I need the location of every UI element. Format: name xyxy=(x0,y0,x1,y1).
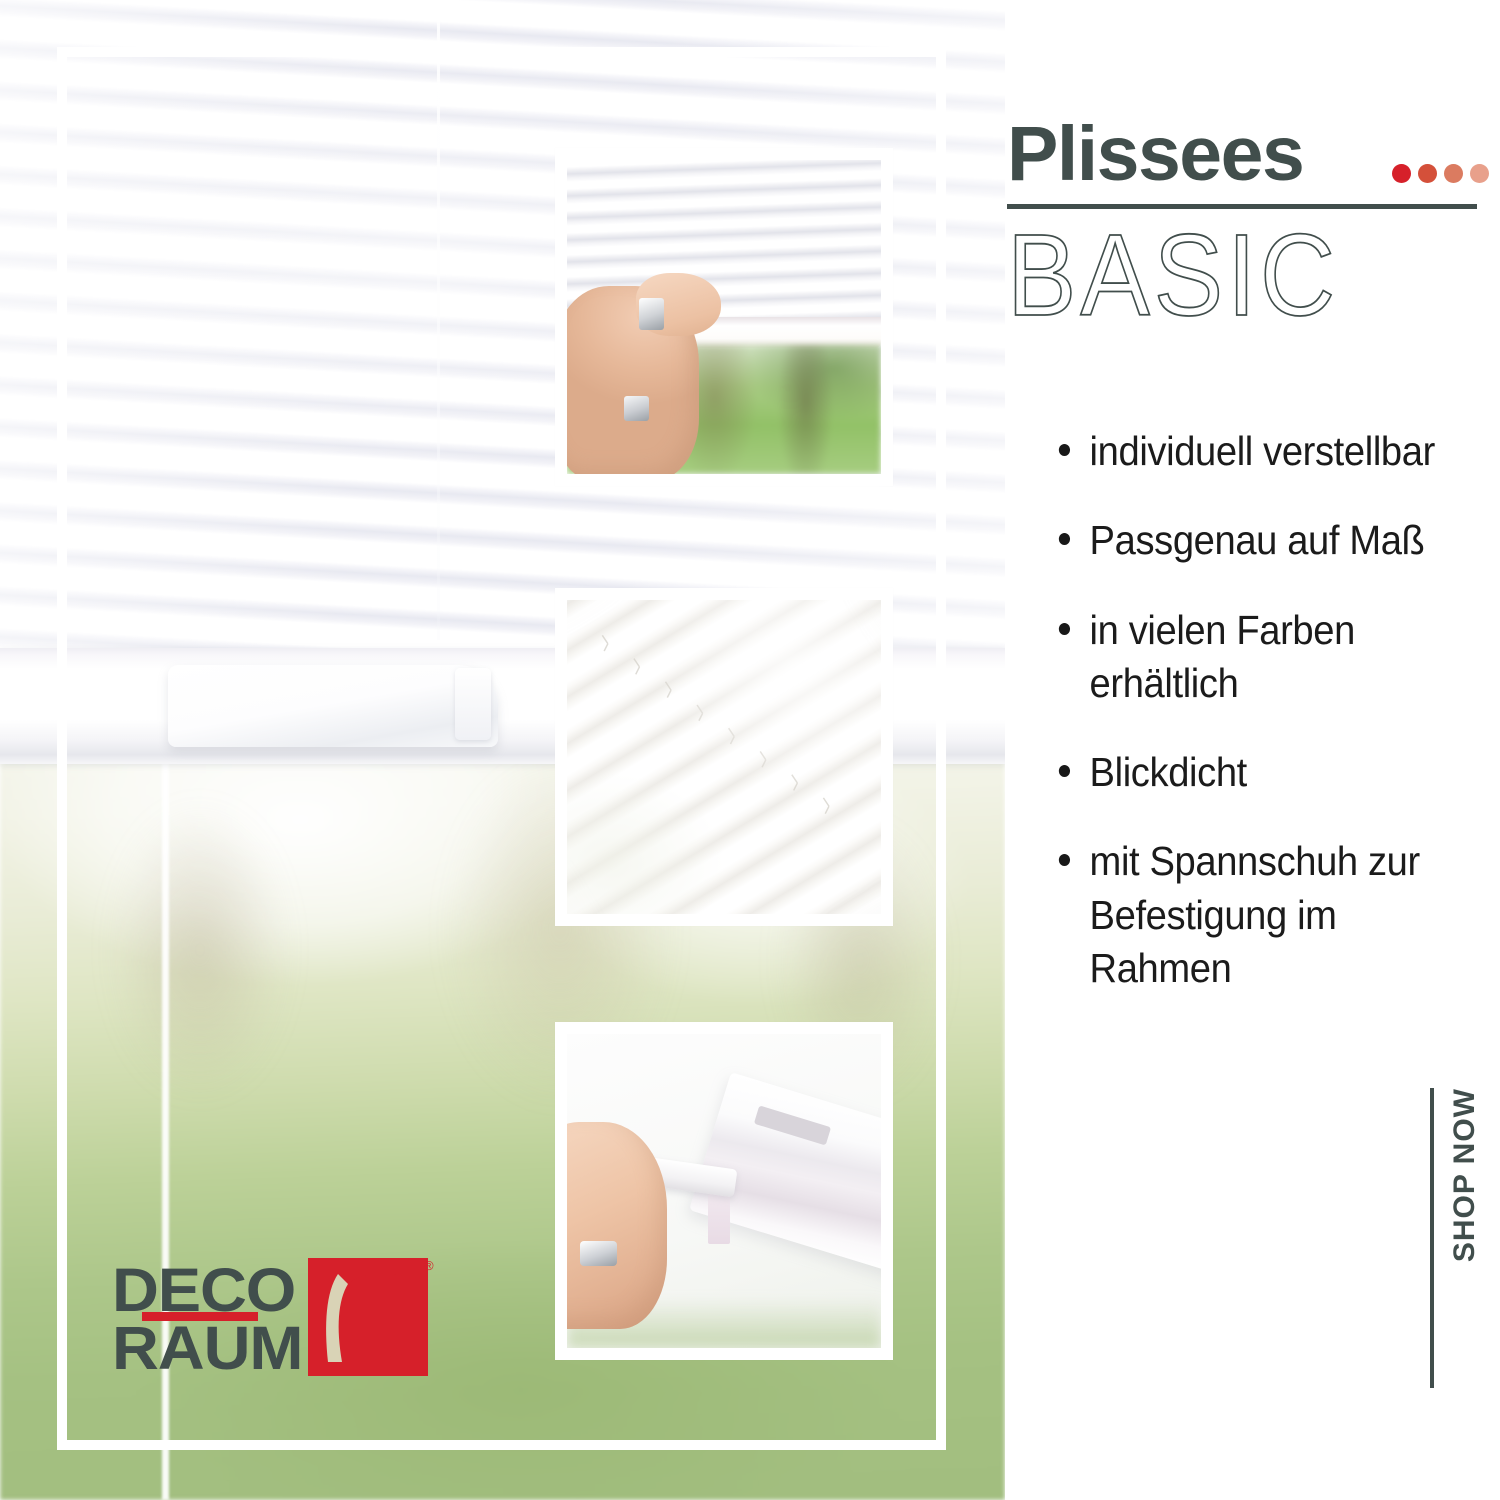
feature-item: in vielen Farben erhältlich xyxy=(1057,604,1438,711)
logo-red-square-icon xyxy=(308,1258,428,1376)
info-panel: Plissees BASIC individuell verstellbar P… xyxy=(1005,0,1500,1500)
feature-list: individuell verstellbar Passgenau auf Ma… xyxy=(1057,425,1467,1031)
feature-item: mit Spannschuh zur Befestigung im Rahmen xyxy=(1057,835,1438,995)
shop-now-cta[interactable]: SHOP NOW xyxy=(1430,1088,1482,1388)
logo-wordmark: DECO RAUM xyxy=(112,1256,328,1378)
inset2-highlight xyxy=(567,600,881,914)
shop-now-divider xyxy=(1430,1088,1434,1388)
title-dot-4 xyxy=(1470,164,1489,183)
inset1-ring-upper xyxy=(639,298,664,329)
inset1-ring-lower xyxy=(624,396,649,421)
blind-handle-grip xyxy=(168,665,498,747)
title-block: Plissees BASIC xyxy=(1007,116,1485,325)
inset-photo-adjusting-blind xyxy=(555,148,893,486)
inset-photo-tension-shoe xyxy=(555,1022,893,1360)
title-divider xyxy=(1007,204,1477,209)
inset3-hand xyxy=(555,1122,667,1329)
feature-item: Passgenau auf Maß xyxy=(1057,514,1438,567)
inset-photo-pleat-fabric xyxy=(555,588,893,926)
window-mullion xyxy=(162,760,169,1500)
page-title: Plissees xyxy=(1007,116,1485,193)
pleat-seam xyxy=(437,0,440,640)
title-dot-3 xyxy=(1444,164,1463,183)
inset3-ring xyxy=(580,1241,618,1266)
logo-text-raum: RAUM xyxy=(112,1318,302,1379)
page-subtitle: BASIC xyxy=(1007,213,1485,339)
title-dot-1 xyxy=(1392,164,1411,183)
shop-now-label: SHOP NOW xyxy=(1448,1088,1482,1262)
product-poster: DECO RAUM ® Plissees xyxy=(0,0,1500,1500)
feature-item: individuell verstellbar xyxy=(1057,425,1438,478)
product-photo-stage: DECO RAUM ® xyxy=(0,0,1005,1500)
registered-trademark-icon: ® xyxy=(424,1258,434,1273)
title-dot-2 xyxy=(1418,164,1437,183)
deco-raum-logo[interactable]: DECO RAUM ® xyxy=(112,1256,438,1378)
feature-item: Blickdicht xyxy=(1057,746,1438,799)
blind-handle-tab xyxy=(455,668,491,740)
title-dots-icon xyxy=(1392,164,1489,183)
page-title-text: Plissees xyxy=(1007,111,1303,197)
